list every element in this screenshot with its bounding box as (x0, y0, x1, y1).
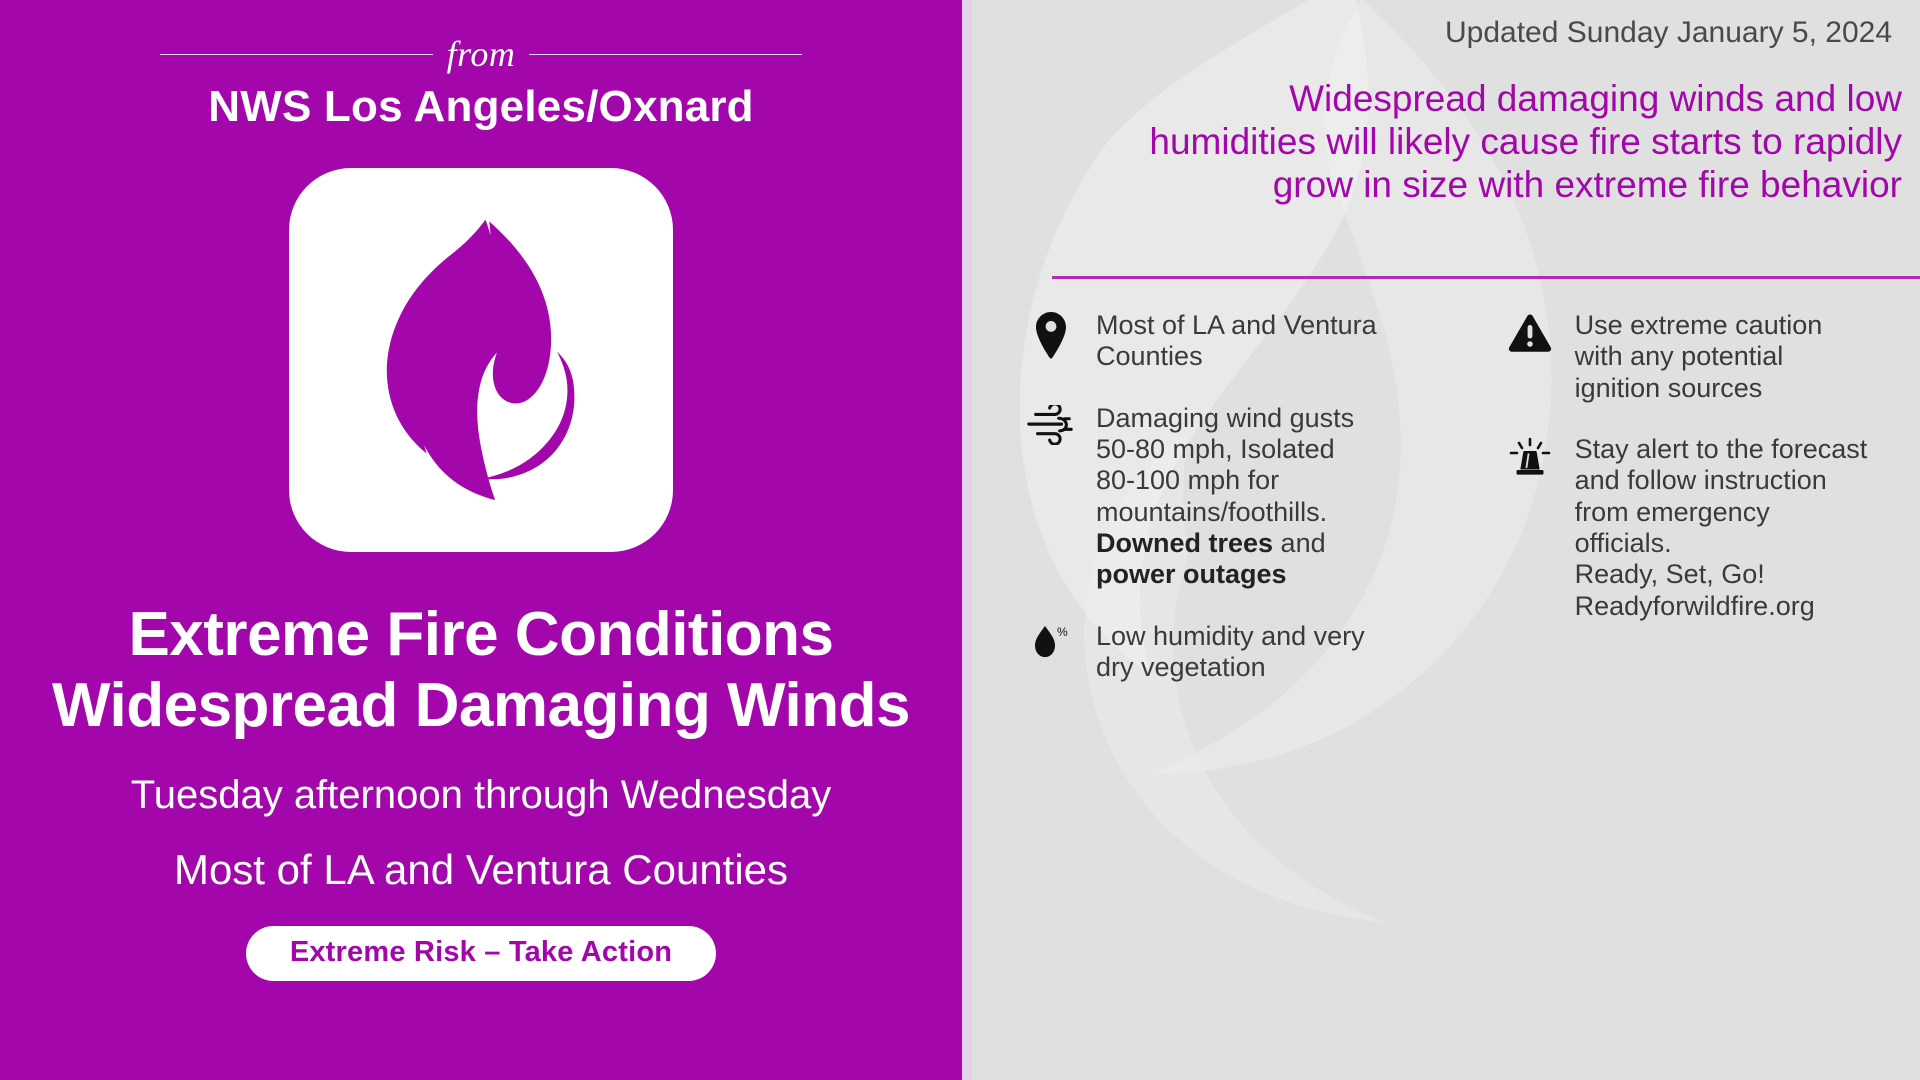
bold-phrase-2: power outages (1096, 559, 1287, 589)
warning-triangle-icon (1501, 310, 1559, 366)
bullet-line-emphasis-2: power outages (1096, 559, 1354, 590)
lede-line-2: humidities will likely cause fire starts… (1012, 121, 1902, 164)
left-purple-panel: from NWS Los Angeles/Oxnard Extreme Fire… (0, 0, 962, 1080)
bullet-wind: Damaging wind gusts 50-80 mph, Isolated … (1022, 403, 1471, 591)
bullet-line: with any potential (1575, 341, 1823, 372)
bullet-columns: Most of LA and Ventura Counties (962, 310, 1920, 713)
emergency-beacon-icon (1501, 434, 1559, 490)
bullet-line: Stay alert to the forecast (1575, 434, 1868, 465)
bullet-humidity-text: Low humidity and very dry vegetation (1096, 621, 1365, 684)
bullet-line: Low humidity and very (1096, 621, 1365, 652)
bullet-line-emphasis: Downed trees and (1096, 528, 1354, 559)
bullet-column-right: Use extreme caution with any potential i… (1501, 310, 1920, 713)
bullet-line: 80-100 mph for (1096, 465, 1354, 496)
flame-icon (331, 210, 631, 510)
bullet-humidity: % Low humidity and very dry vegetation (1022, 621, 1471, 684)
bullet-line: dry vegetation (1096, 652, 1365, 683)
page-title: Extreme Fire Conditions Widespread Damag… (0, 600, 962, 741)
bullet-stay-alert-text: Stay alert to the forecast and follow in… (1575, 434, 1868, 622)
lede-line-1: Widespread damaging winds and low (1012, 78, 1902, 121)
bullet-location-text: Most of LA and Ventura Counties (1096, 310, 1377, 373)
bullet-line: Use extreme caution (1575, 310, 1823, 341)
bold-phrase-tail: and (1273, 528, 1326, 558)
bullet-caution-text: Use extreme caution with any potential i… (1575, 310, 1823, 404)
nws-fire-weather-graphic: from NWS Los Angeles/Oxnard Extreme Fire… (0, 0, 1920, 1080)
bullet-line: Counties (1096, 341, 1377, 372)
from-label: from (447, 36, 516, 72)
bullet-line: from emergency (1575, 497, 1868, 528)
svg-text:%: % (1057, 625, 1068, 639)
bullet-line: Readyforwildfire.org (1575, 591, 1868, 622)
flame-icon-tile (289, 168, 673, 552)
headline-line-2: Widespread Damaging Winds (10, 671, 952, 742)
bullet-stay-alert: Stay alert to the forecast and follow in… (1501, 434, 1920, 622)
risk-badge: Extreme Risk – Take Action (246, 926, 716, 981)
bullet-wind-text: Damaging wind gusts 50-80 mph, Isolated … (1096, 403, 1354, 591)
lede-statement: Widespread damaging winds and low humidi… (1012, 78, 1902, 207)
bullet-line: and follow instruction (1575, 465, 1868, 496)
divider-line-right (529, 54, 802, 55)
right-info-panel: Updated Sunday January 5, 2024 Widesprea… (962, 0, 1920, 1080)
wind-icon (1022, 403, 1080, 459)
bullet-line: mountains/foothills. (1096, 497, 1354, 528)
lede-divider (1052, 276, 1920, 279)
divider-line-left (160, 54, 433, 55)
panel-seam (962, 0, 972, 1080)
bullet-line: Ready, Set, Go! (1575, 559, 1868, 590)
bullet-line: 50-80 mph, Isolated (1096, 434, 1354, 465)
bullet-line: Most of LA and Ventura (1096, 310, 1377, 341)
bullet-line: ignition sources (1575, 373, 1823, 404)
area-text: Most of LA and Ventura Counties (174, 845, 788, 895)
bullet-location: Most of LA and Ventura Counties (1022, 310, 1471, 373)
bullet-column-left: Most of LA and Ventura Counties (1022, 310, 1471, 713)
office-name: NWS Los Angeles/Oxnard (208, 82, 754, 132)
timing-text: Tuesday afternoon through Wednesday (131, 771, 831, 819)
bullet-caution: Use extreme caution with any potential i… (1501, 310, 1920, 404)
bullet-line: officials. (1575, 528, 1868, 559)
map-pin-icon (1022, 310, 1080, 366)
headline-line-1: Extreme Fire Conditions (10, 600, 952, 671)
updated-timestamp: Updated Sunday January 5, 2024 (1445, 16, 1892, 50)
from-divider-row: from (0, 36, 962, 72)
lede-line-3: grow in size with extreme fire behavior (1012, 164, 1902, 207)
bold-phrase: Downed trees (1096, 528, 1273, 558)
humidity-droplet-icon: % (1022, 621, 1080, 677)
bullet-line: Damaging wind gusts (1096, 403, 1354, 434)
